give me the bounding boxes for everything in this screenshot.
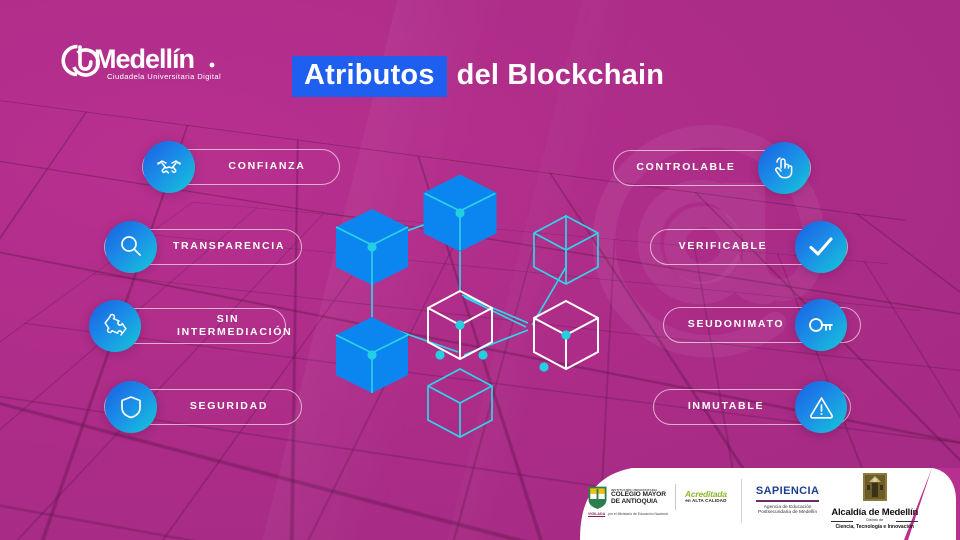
logo-sapiencia: SAPIENCIA Agencia de Educación Postsecun… — [756, 486, 820, 516]
sapiencia-rule — [756, 500, 820, 502]
logo-colegio-mayor-de-antioquia: INSTITUCIÓN UNIVERSITARIA COLEGIO MAYOR … — [588, 484, 727, 518]
acreditada-label: Acreditada — [685, 490, 727, 499]
attribute-pill-sin-intermediacion[interactable]: SIN INTERMEDIACIÓN — [118, 308, 286, 344]
acreditacion-badge: Acreditada en ALTA CALIDAD — [685, 490, 727, 504]
title-highlight: Atributos — [292, 56, 447, 97]
handshake-icon[interactable] — [143, 141, 195, 193]
puzzle-piece-icon[interactable] — [89, 300, 141, 352]
footer-logo-row: INSTITUCIÓN UNIVERSITARIA COLEGIO MAYOR … — [588, 470, 960, 532]
divider — [675, 484, 676, 510]
warning-triangle-icon[interactable] — [795, 381, 847, 433]
logo-alcaldia-de-medellin: Alcaldía de Medellín Distrito de Ciencia… — [831, 472, 918, 529]
colegio-mayor-crest-icon — [588, 486, 607, 509]
cma-line-1: INSTITUCIÓN UNIVERSITARIA — [611, 489, 666, 492]
footer-white-shape — [536, 456, 960, 540]
footer-logos-bar: INSTITUCIÓN UNIVERSITARIA COLEGIO MAYOR … — [536, 456, 960, 540]
shield-icon[interactable] — [105, 381, 157, 433]
alcaldia-line-2: Ciencia, Tecnología e Innovación — [831, 525, 918, 530]
key-icon[interactable] — [795, 299, 847, 351]
svg-text:Medellín: Medellín — [94, 44, 194, 74]
attribute-pill-sin-intermediacion-label: SIN INTERMEDIACIÓN — [119, 313, 285, 339]
check-icon[interactable] — [795, 221, 847, 273]
label-line-1: SIN — [217, 313, 240, 325]
cma-line-2: COLEGIO MAYOR — [611, 492, 666, 499]
alcaldia-name: Alcaldía de Medellín — [831, 508, 918, 518]
vigilada-label: VIGILADA — [588, 512, 605, 516]
label-line-2: INTERMEDIACIÓN — [177, 326, 292, 338]
vigilada-sublabel: por el Ministerio de Educación Nacional — [608, 512, 668, 516]
cube-outline-bottom-cyan — [428, 369, 492, 437]
sapiencia-name: SAPIENCIA — [756, 486, 820, 497]
alcaldia-crest-icon — [862, 472, 888, 502]
title-rest: del Blockchain — [457, 61, 664, 92]
logo-tagline: Ciudadela Universitaria Digital — [107, 72, 221, 81]
hand-tap-icon[interactable] — [758, 142, 810, 194]
alta-calidad-label: en ALTA CALIDAD — [685, 499, 727, 504]
vigilada-note: VIGILADA por el Ministerio de Educación … — [588, 512, 668, 516]
magnifier-icon[interactable] — [105, 221, 157, 273]
footer-divider-1 — [741, 479, 742, 523]
sapiencia-line-1: Agencia de Educación — [756, 506, 820, 511]
page-title: Atributos del Blockchain — [292, 56, 664, 97]
sapiencia-line-2: Postsecundaria de Medellín — [756, 511, 820, 516]
medellin-logo: Medellín Ciudadela Universitaria Digital — [44, 38, 224, 82]
blockchain-network-diagram — [330, 155, 630, 420]
slide-canvas: Medellín Ciudadela Universitaria Digital… — [0, 0, 960, 540]
alcaldia-line-1: Distrito de — [831, 519, 918, 523]
cma-line-3: DE ANTIOQUIA — [611, 499, 666, 506]
